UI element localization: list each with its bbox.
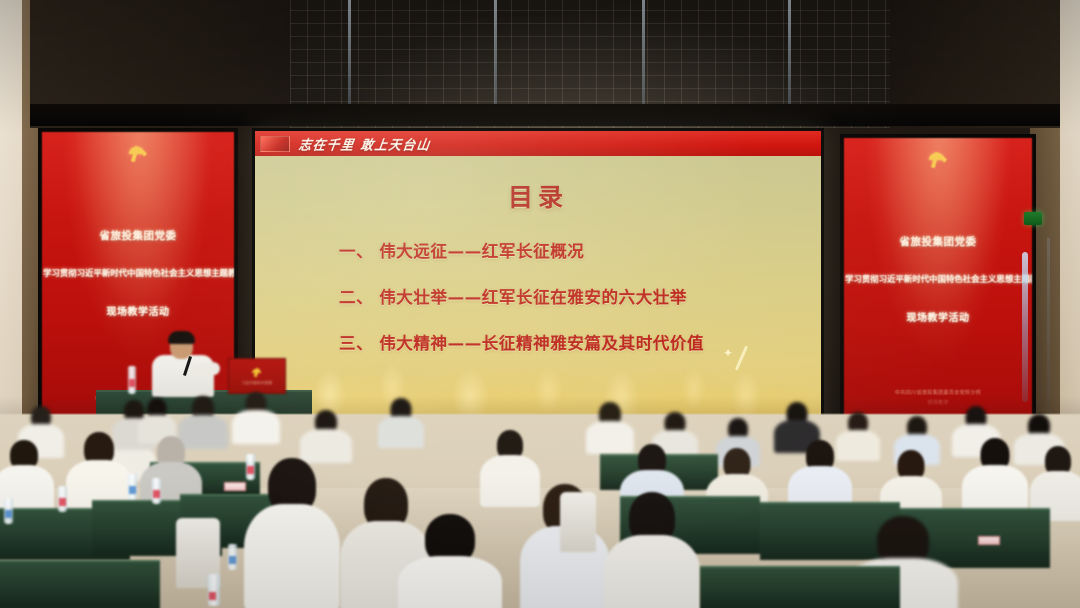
audience-person (138, 398, 176, 440)
audience-person (604, 492, 700, 608)
party-emblem-icon (251, 367, 264, 378)
slide-toc-list: 一、伟大远征——红军长征概况 二、伟大壮举——红军长征在雅安的六大壮举 三、伟大… (255, 238, 821, 354)
party-emblem-icon (927, 150, 949, 170)
slide-title: 目录 (255, 178, 821, 214)
conference-hall-scene: 省旅投集团党委 学习贯彻习近平新时代中国特色社会主义思想主题教育 现场教学活动 … (0, 0, 1080, 608)
stage-valance (30, 104, 1060, 126)
toc-item: 一、伟大远征——红军长征概况 (339, 238, 821, 262)
wall-pole (1047, 238, 1050, 418)
water-bottle-icon (4, 498, 13, 524)
led-panel-right-screen: 省旅投集团党委 学习贯彻习近平新时代中国特色社会主义思想主题教育 现场教学活动 … (844, 138, 1032, 420)
toc-item-number: 三、 (339, 334, 373, 353)
podium-laptop: 习近平新时代思想 (228, 358, 286, 394)
slide-header-calligraphy: 志在千里 敢上天台山 (298, 133, 433, 154)
toc-item: 二、伟大壮举——红军长征在雅安的六大壮举 (339, 284, 821, 308)
led-left-line2: 学习贯彻习近平新时代中国特色社会主义思想主题教育 (43, 267, 233, 279)
toc-item-number: 二、 (339, 288, 373, 307)
led-right-line1: 省旅投集团党委 (844, 234, 1032, 249)
toc-item: 三、伟大精神——长征精神雅安篇及其时代价值 (339, 330, 821, 354)
led-panel-right: 省旅投集团党委 学习贯彻习近平新时代中国特色社会主义思想主题教育 现场教学活动 … (840, 134, 1036, 424)
slide-header-bar: 志在千里 敢上天台山 (255, 131, 821, 156)
led-right-line3: 现场教学活动 (844, 309, 1032, 324)
exit-sign-icon (1024, 212, 1042, 225)
led-left-line1: 省旅投集团党委 (42, 228, 234, 243)
red-flag-badge-icon (260, 136, 290, 152)
water-bottle-icon (228, 544, 237, 570)
audience-person (232, 392, 280, 440)
table-row (700, 566, 900, 608)
laptop-caption: 习近平新时代思想 (242, 381, 272, 386)
chair (560, 492, 596, 552)
led-right-line2: 学习贯彻习近平新时代中国特色社会主义思想主题教育 (845, 273, 1031, 285)
toc-item-number: 一、 (339, 242, 373, 261)
led-right-footer-line1: 中共四川省旅投集团委员会党校分校 (844, 389, 1032, 396)
toc-item-text: 伟大远征——红军长征概况 (379, 242, 584, 261)
water-bottle-icon (128, 366, 136, 394)
water-bottle-icon (58, 486, 67, 512)
audience-person (244, 458, 340, 608)
water-bottle-icon (128, 474, 137, 500)
led-left-line3: 现场教学活动 (42, 303, 234, 318)
led-panel-left-text: 省旅投集团党委 学习贯彻习近平新时代中国特色社会主义思想主题教育 现场教学活动 (42, 228, 234, 318)
speaker-presenter (150, 333, 216, 395)
audience-area (0, 396, 1080, 608)
water-bottle-icon (152, 478, 161, 504)
audience-person (300, 410, 352, 460)
name-card (978, 536, 1000, 545)
led-panel-right-text: 省旅投集团党委 学习贯彻习近平新时代中国特色社会主义思想主题教育 现场教学活动 (844, 234, 1032, 324)
water-bottle-icon (208, 574, 220, 606)
toc-item-text: 伟大壮举——红军长征在雅安的六大壮举 (379, 288, 687, 307)
audience-person (378, 398, 424, 446)
party-emblem-icon (127, 144, 149, 164)
table-row (0, 560, 160, 608)
audience-person (398, 514, 502, 608)
audience-person (962, 438, 1028, 516)
toc-item-text: 伟大精神——长征精神雅安篇及其时代价值 (379, 334, 704, 353)
name-card (224, 482, 246, 491)
wall-light-strip (1022, 252, 1028, 402)
audience-person (586, 402, 634, 450)
